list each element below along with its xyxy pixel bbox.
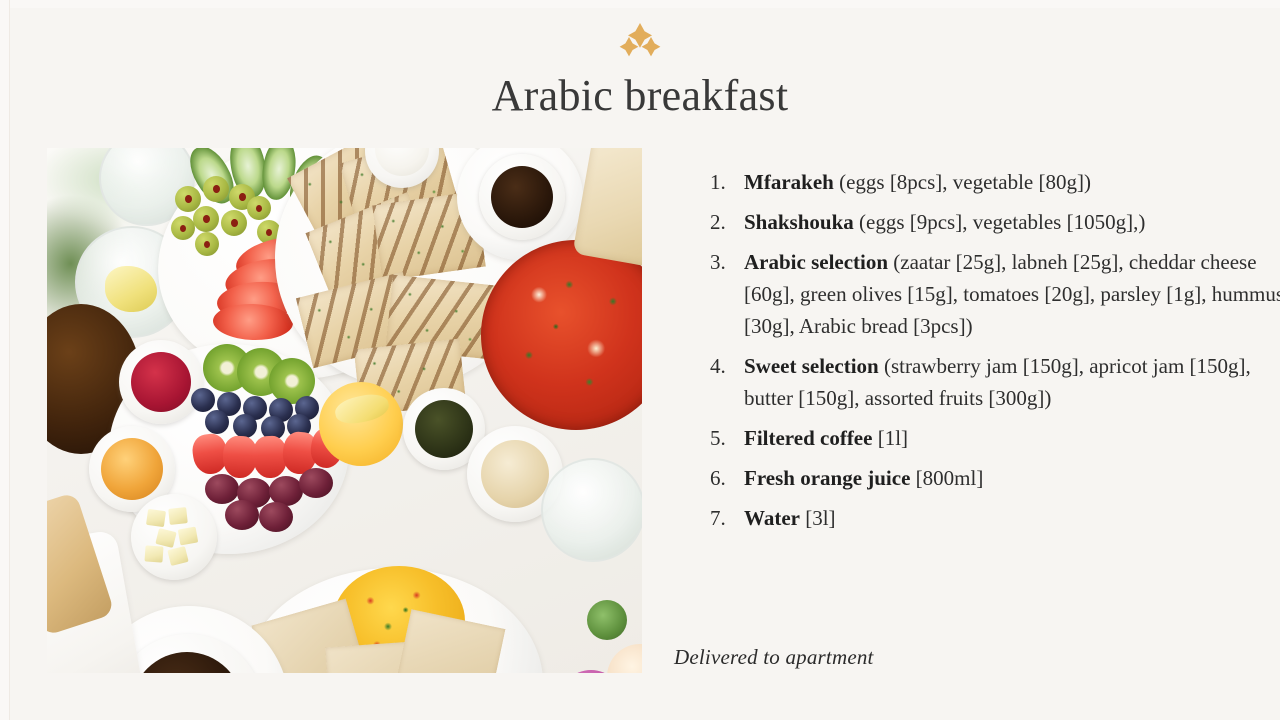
- blueberry: [205, 410, 229, 434]
- list-item-number: 1.: [710, 166, 744, 198]
- menu-list: 1. Mfarakeh (eggs [8pcs], vegetable [80g…: [670, 166, 1280, 542]
- list-item-body: Shakshouka (eggs [9pcs], vegetables [105…: [744, 206, 1280, 238]
- blueberry: [191, 388, 215, 412]
- grape: [259, 502, 293, 532]
- dish-detail: [3l]: [800, 506, 836, 530]
- list-item-body: Water [3l]: [744, 502, 1280, 534]
- dish-detail: [1l]: [872, 426, 908, 450]
- dish-detail: (eggs [8pcs], vegetable [80g]): [834, 170, 1091, 194]
- breakfast-photo: [47, 148, 642, 673]
- grape: [299, 468, 333, 498]
- coffee-top: [491, 166, 553, 228]
- page-title: Arabic breakfast: [0, 68, 1280, 124]
- slide-root: Arabic breakfast: [0, 0, 1280, 720]
- strawberry-jam: [131, 352, 191, 412]
- water-glass-right: [541, 458, 642, 562]
- arabic-bread-basket: [572, 148, 642, 269]
- photo-canvas: [47, 148, 642, 673]
- cheese-cube: [168, 507, 188, 525]
- list-item: 2. Shakshouka (eggs [9pcs], vegetables […: [710, 206, 1280, 238]
- list-item-body: Mfarakeh (eggs [8pcs], vegetable [80g]): [744, 166, 1280, 198]
- dish-name: Arabic selection: [744, 250, 888, 274]
- list-item-number: 7.: [710, 502, 744, 534]
- list-item: 1. Mfarakeh (eggs [8pcs], vegetable [80g…: [710, 166, 1280, 198]
- green-olive: [193, 206, 219, 232]
- dish-detail: [800ml]: [910, 466, 983, 490]
- list-item-body: Fresh orange juice [800ml]: [744, 462, 1280, 494]
- list-item: 5. Filtered coffee [1l]: [710, 422, 1280, 454]
- hummus: [481, 440, 549, 508]
- dish-name: Sweet selection: [744, 354, 879, 378]
- orange-juice-glass: [319, 382, 403, 466]
- list-item: 4. Sweet selection (strawberry jam [150g…: [710, 350, 1280, 414]
- green-olive: [247, 196, 271, 220]
- blueberry: [233, 414, 257, 438]
- list-item-number: 4.: [710, 350, 744, 382]
- dish-name: Shakshouka: [744, 210, 854, 234]
- green-olive: [195, 232, 219, 256]
- delivery-note: Delivered to apartment: [674, 645, 874, 670]
- list-item: 6. Fresh orange juice [800ml]: [710, 462, 1280, 494]
- list-item-number: 5.: [710, 422, 744, 454]
- cheese-cube: [146, 509, 166, 527]
- green-leaf: [587, 600, 627, 640]
- cream-rose: [607, 644, 642, 673]
- green-olive: [203, 176, 229, 202]
- list-item-number: 3.: [710, 246, 744, 278]
- green-olive: [171, 216, 195, 240]
- list-item: 3. Arabic selection (zaatar [25g], labne…: [710, 246, 1280, 342]
- apricot-jam: [101, 438, 163, 500]
- dish-detail: (eggs [9pcs], vegetables [1050g],): [854, 210, 1146, 234]
- zaatar: [415, 400, 473, 458]
- page-top-edge: [0, 0, 1280, 8]
- grape: [225, 500, 259, 530]
- list-item-number: 6.: [710, 462, 744, 494]
- diamond-sparkle-ornament: [0, 22, 1280, 64]
- dish-name: Mfarakeh: [744, 170, 834, 194]
- list-item: 7. Water [3l]: [710, 502, 1280, 534]
- grape: [205, 474, 239, 504]
- list-item-body: Filtered coffee [1l]: [744, 422, 1280, 454]
- green-olive: [221, 210, 247, 236]
- cheese-cube: [178, 527, 199, 546]
- list-item-number: 2.: [710, 206, 744, 238]
- list-item-body: Arabic selection (zaatar [25g], labneh […: [744, 246, 1280, 342]
- dish-name: Filtered coffee: [744, 426, 872, 450]
- dish-name: Water: [744, 506, 800, 530]
- dish-name: Fresh orange juice: [744, 466, 910, 490]
- cheese-cube: [144, 545, 163, 562]
- list-item-body: Sweet selection (strawberry jam [150g], …: [744, 350, 1280, 414]
